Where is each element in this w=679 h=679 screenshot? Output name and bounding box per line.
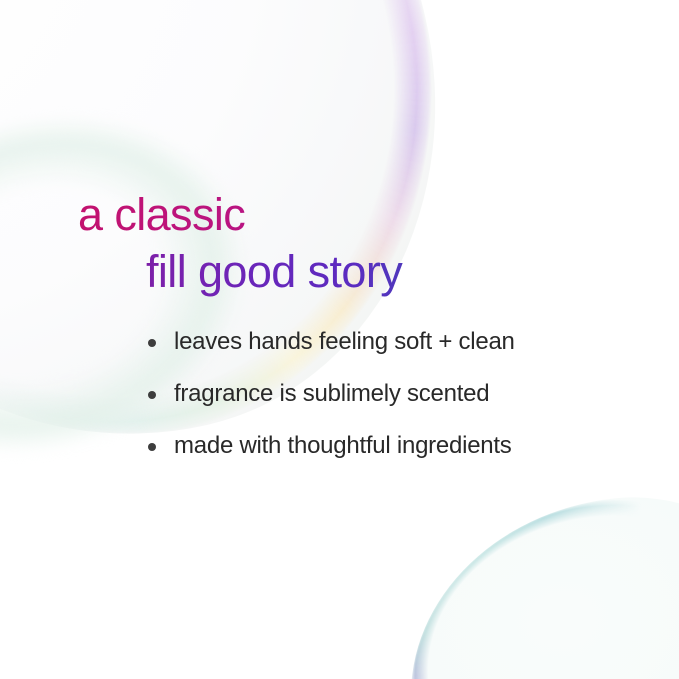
bullet-dot-icon: [148, 391, 156, 399]
list-item-label: made with thoughtful ingredients: [174, 424, 642, 467]
headline-line-1: a classic: [78, 186, 638, 243]
headline: a classic fill good story: [78, 186, 638, 300]
list-item-label: fragrance is sublimely scented: [174, 372, 642, 415]
product-benefits-banner: a classic fill good story leaves hands f…: [0, 0, 679, 679]
bullet-dot-icon: [148, 339, 156, 347]
list-item: fragrance is sublimely scented: [142, 372, 642, 415]
headline-line-2: fill good story: [146, 243, 638, 300]
list-item-label: leaves hands feeling soft + clean: [174, 320, 642, 363]
bullet-dot-icon: [148, 443, 156, 451]
list-item: made with thoughtful ingredients: [142, 424, 642, 467]
list-item: leaves hands feeling soft + clean: [142, 320, 642, 363]
benefits-list: leaves hands feeling soft + clean fragra…: [142, 320, 642, 467]
content-layer: a classic fill good story leaves hands f…: [0, 0, 679, 679]
